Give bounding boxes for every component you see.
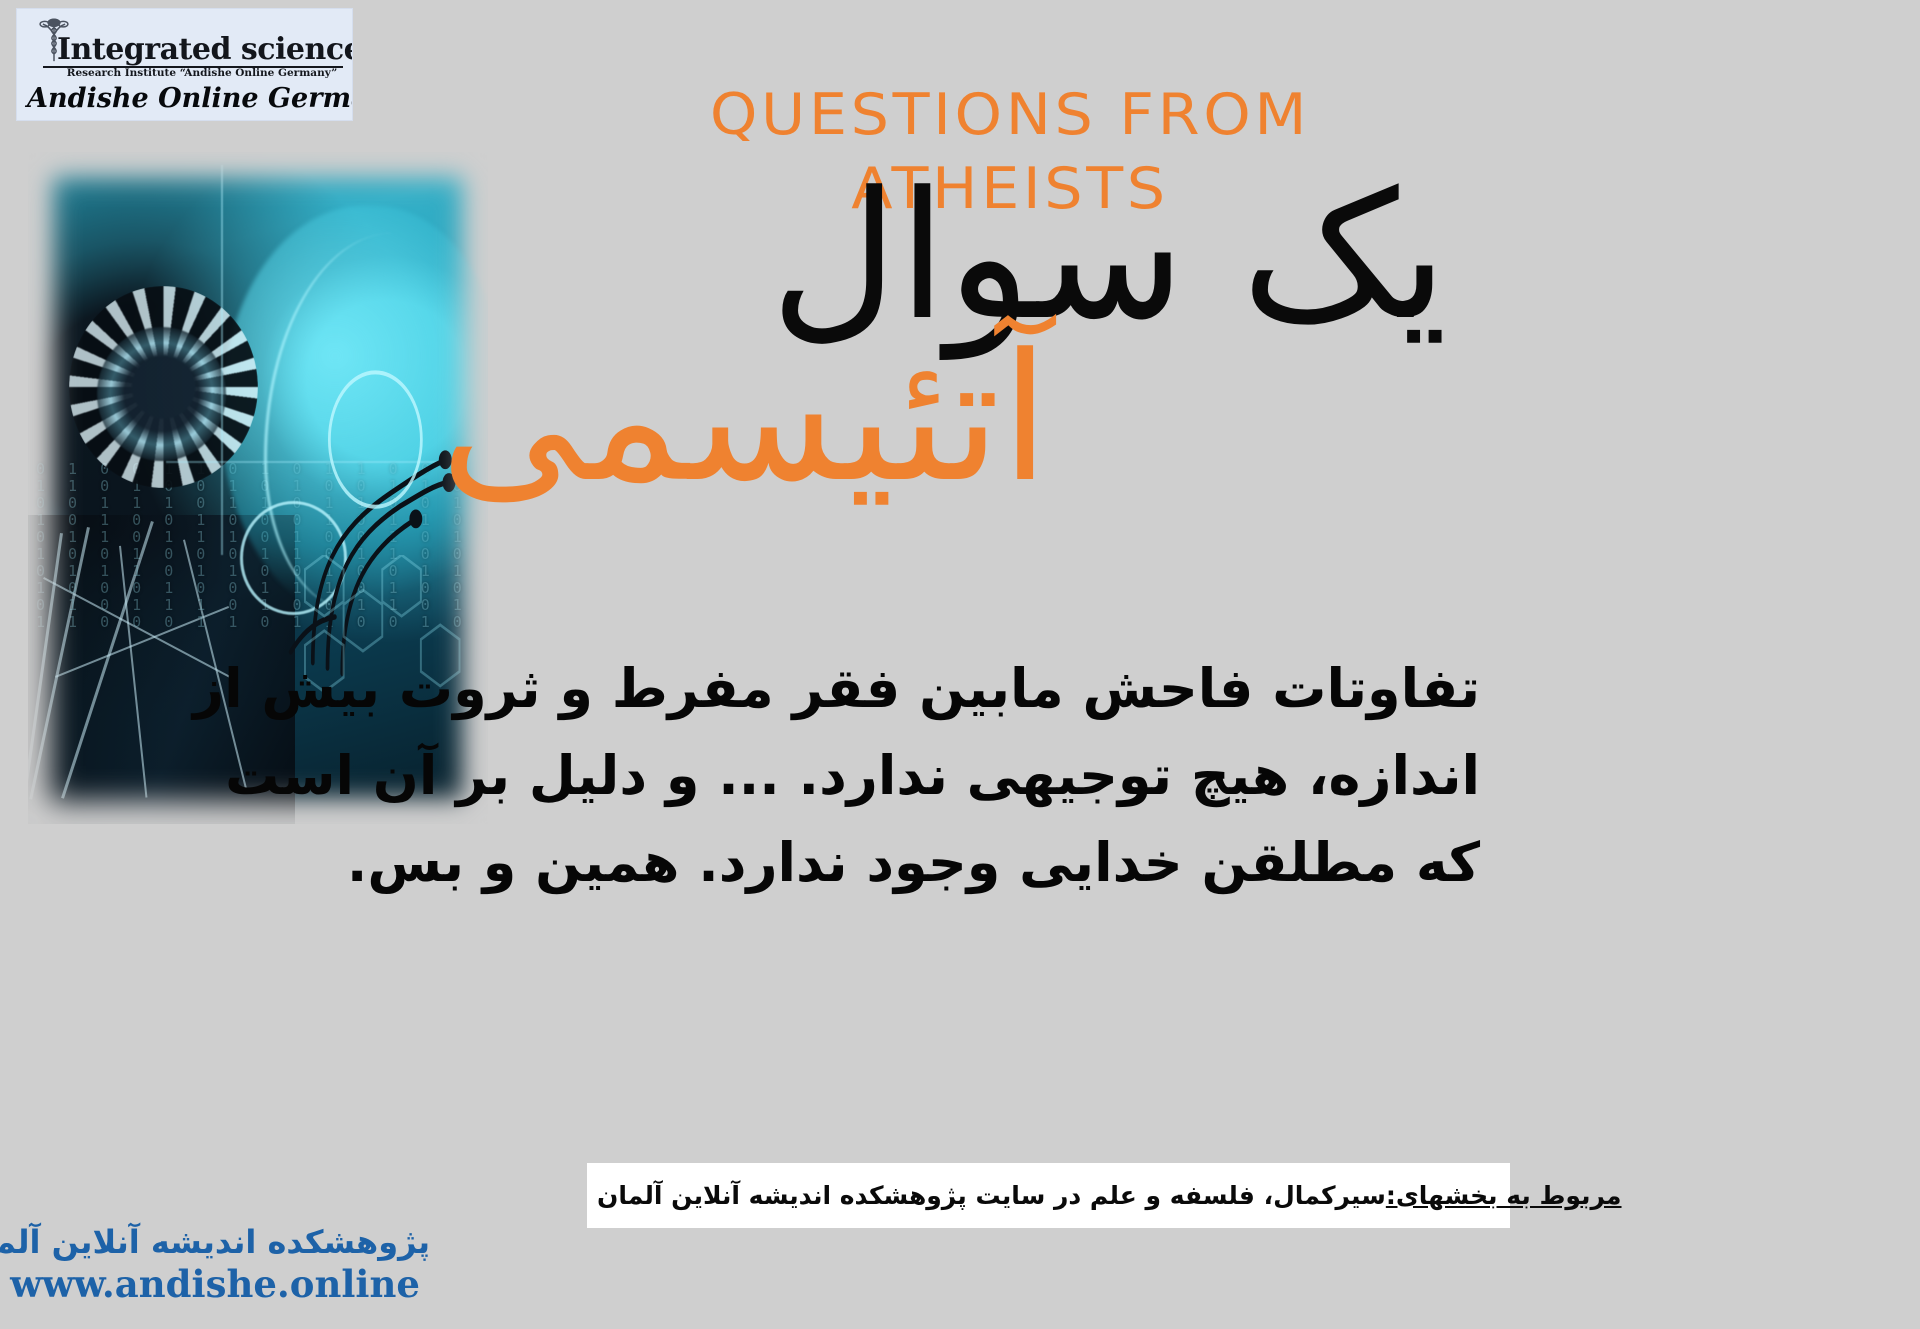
poster-canvas: Integrated sciences Research Institute “… — [0, 0, 1920, 1329]
logo-subtitle: Research Institute “Andishe Online Germa… — [57, 67, 347, 79]
footer-website-link[interactable]: www.andishe.online — [0, 1262, 430, 1306]
caption-label: مربوط به بخشهای: — [1386, 1181, 1622, 1210]
footer: پژوهشکده اندیشه آنلاین آلمان www.andishe… — [0, 1222, 430, 1306]
body-line-1: تفاوتات فاحش مابین فقر مفرط و ثروت بیش ا… — [470, 645, 1480, 732]
body-line-2: اندازه، هیچ توجیهی ندارد. ... و دلیل بر … — [470, 732, 1480, 819]
institute-logo: Integrated sciences Research Institute “… — [16, 8, 353, 121]
caption-bar: مربوط به بخشهای:سیرکمال، فلسفه و علم در … — [587, 1163, 1510, 1228]
body-paragraph: تفاوتات فاحش مابین فقر مفرط و ثروت بیش ا… — [470, 645, 1480, 906]
persian-headline-accent: آتئیسمی — [440, 330, 1540, 508]
caption-value: سیرکمال، فلسفه و علم در سایت پژوهشکده ان… — [597, 1181, 1386, 1210]
turbine-hub — [97, 327, 226, 461]
grid-line-vertical — [221, 165, 223, 555]
footer-organization: پژوهشکده اندیشه آنلاین آلمان — [0, 1222, 430, 1262]
caption-text: مربوط به بخشهای:سیرکمال، فلسفه و علم در … — [597, 1181, 1622, 1211]
body-line-3: که مطلقن خدایی وجود ندارد. همین و بس. — [470, 819, 1480, 906]
logo-script-name: Andishe Online Germany — [27, 83, 347, 114]
logo-title: Integrated sciences — [57, 35, 347, 65]
